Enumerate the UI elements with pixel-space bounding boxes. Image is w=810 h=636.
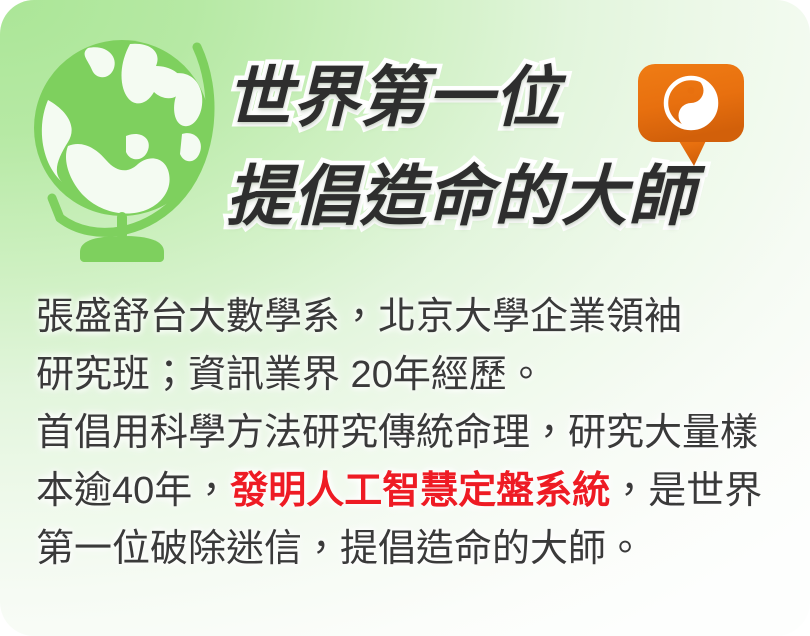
card-header: 世界第一位 提倡造命的大師 (0, 0, 810, 272)
promo-card: 世界第一位 提倡造命的大師 (0, 0, 810, 636)
headline-line-2: 提倡造命的大師 (226, 163, 695, 229)
body-highlight-run: 發明人工智慧定盤系統 (230, 470, 610, 512)
body-text-run: 研究班；資訊業界 20年經歷。 (36, 354, 545, 396)
body-text-run: 首倡用科學方法研究傳統命理，研究大量樣 (36, 412, 758, 454)
globe-icon (22, 22, 222, 262)
body-text-run: 張盛舒台大數學系，北京大學企業領袖 (36, 296, 682, 338)
body-line-3: 首倡用科學方法研究傳統命理，研究大量樣 (36, 404, 796, 462)
body-text-run: ，是世界 (610, 470, 762, 512)
yin-yang-speech-bubble-badge (638, 64, 748, 168)
body-line-5: 第一位破除迷信，提倡造命的大師。 (36, 520, 796, 578)
body-line-4: 本逾40年，發明人工智慧定盤系統，是世界 (36, 462, 796, 520)
headline-line-1: 世界第一位 (226, 64, 561, 130)
body-line-2: 研究班；資訊業界 20年經歷。 (36, 346, 796, 404)
body-paragraph: 張盛舒台大數學系，北京大學企業領袖 研究班；資訊業界 20年經歷。 首倡用科學方… (36, 288, 796, 578)
body-text-run: 本逾40年， (36, 470, 230, 512)
body-line-1: 張盛舒台大數學系，北京大學企業領袖 (36, 288, 796, 346)
body-text-run: 第一位破除迷信，提倡造命的大師。 (36, 528, 644, 570)
